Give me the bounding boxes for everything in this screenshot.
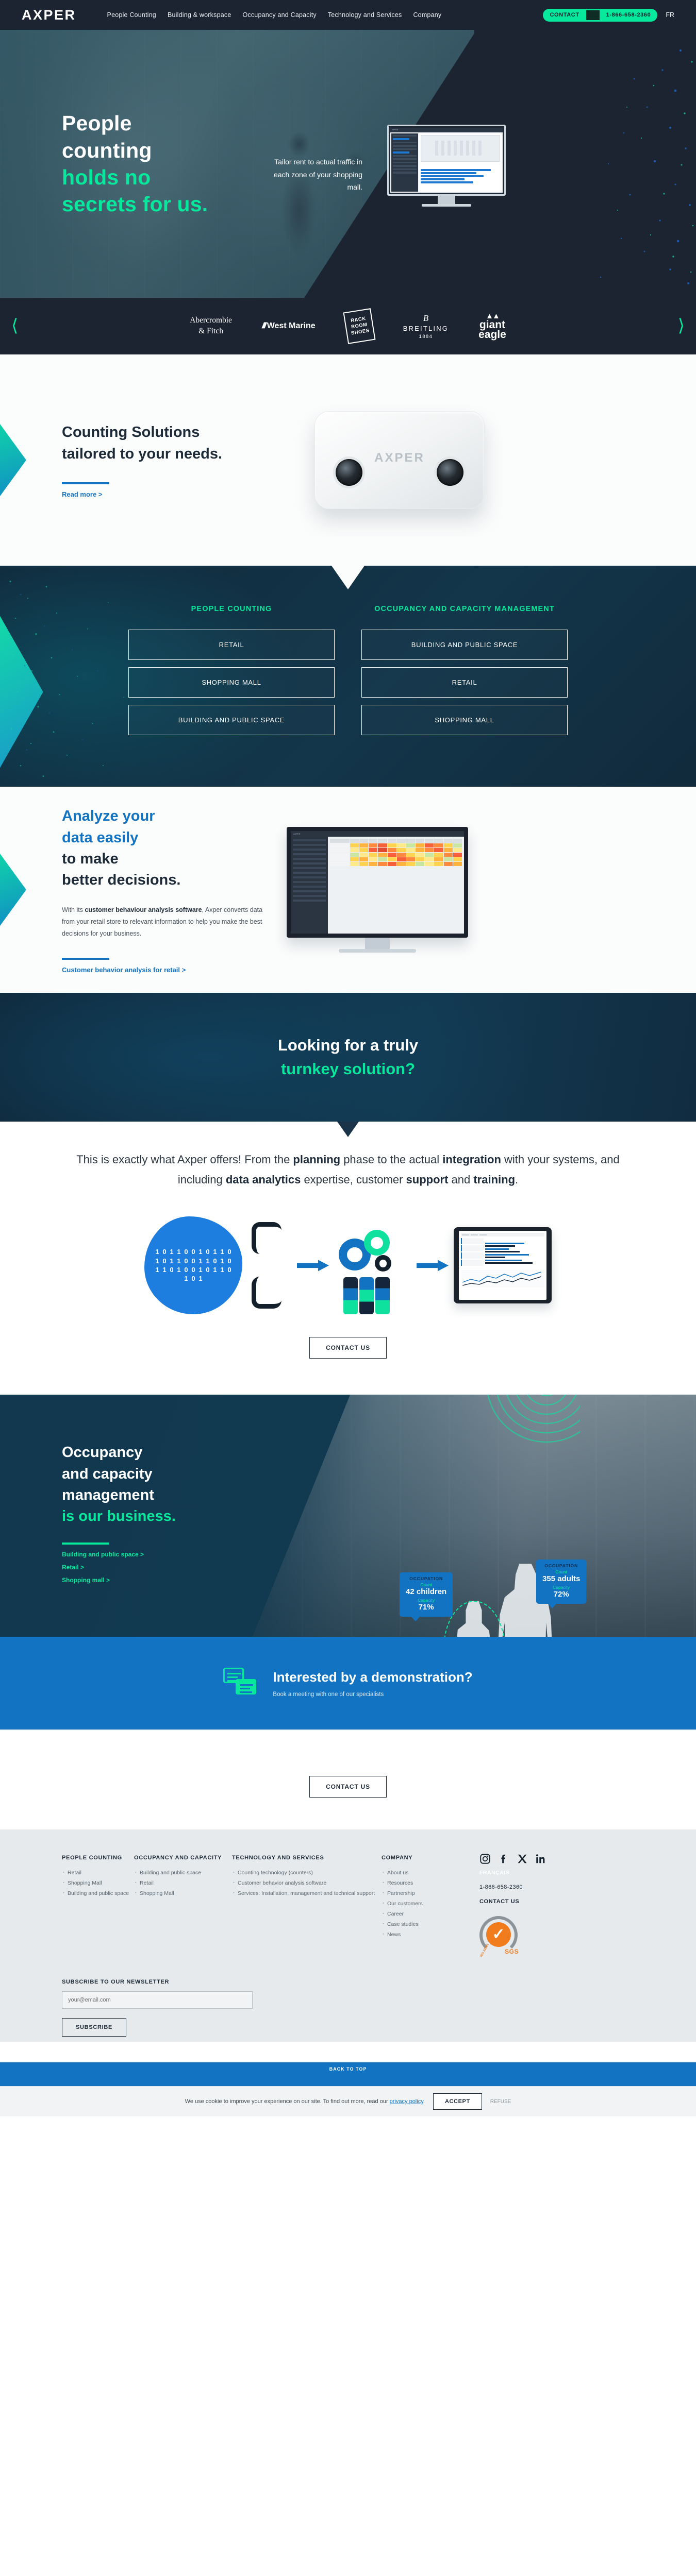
bit: 1 [154,1266,161,1274]
footer-link-behavior-software[interactable]: Customer behavior analysis software [232,1878,382,1889]
heat-cell [444,857,453,861]
heat-cell [453,843,462,848]
toolbar-item [471,1234,478,1235]
demo-cta-section: CONTACT US [0,1730,696,1829]
heat-cell [416,843,424,848]
title-line: to make [62,849,268,870]
gear-icon [376,1257,390,1270]
dashboard-app [291,837,464,938]
chevron-right-icon[interactable]: ⟩ [667,317,696,335]
process-infographic: 101100 101101 011001 101011 010010 11010… [77,1211,619,1319]
contact-us-button[interactable]: CONTACT US [309,1337,387,1359]
chevron-left-icon[interactable]: ⟨ [0,317,29,335]
bit: 0 [183,1266,190,1274]
footer-heading: TECHNOLOGY AND SERVICES [232,1853,382,1863]
arrow-right-icon [417,1260,449,1271]
bit: 0 [226,1257,233,1265]
db-cylinder [343,1277,358,1314]
heat-cell [444,862,453,866]
heat-cell [406,857,415,861]
bit: 0 [183,1257,190,1265]
camera-lens-icon [336,459,362,486]
heat-cell [397,857,406,861]
logo-text-line: 1884 [403,334,449,340]
sidebar-row [293,872,326,874]
solution-button-building-public-space[interactable]: BUILDING AND PUBLIC SPACE [128,705,335,735]
sidebar-row [293,886,326,888]
line-chart-svg [461,1270,544,1287]
badge-capacity-value: 71% [406,1603,446,1612]
toolbar-item [479,1234,487,1235]
heat-cell [406,848,415,852]
solution-button-retail[interactable]: RETAIL [361,667,568,698]
bar-chart-widget [421,163,500,190]
footer-link-case-studies[interactable]: Case studies [382,1920,479,1930]
grid-header-cell [434,839,443,843]
grid-header-cell [406,839,415,843]
heat-cell [359,848,368,852]
contact-us-button-demo[interactable]: CONTACT US [309,1776,387,1798]
analyze-title: Analyze your data easily to make better … [62,806,268,891]
hero-content: People counting holds no secrets for us.… [0,30,696,298]
dashboard-body [461,1238,544,1268]
monitor-screen: AXPER [287,827,468,938]
nav-item-building-workspace[interactable]: Building & workspace [168,11,231,19]
footer-link-building-public-space[interactable]: Building and public space [62,1889,134,1899]
counting-solutions-text: Counting Solutions tailored to your need… [62,422,284,498]
heat-cell [359,853,368,857]
accent-rule [62,958,109,960]
footer-link-services[interactable]: Services: Installation, management and t… [232,1889,382,1899]
bit: 0 [161,1248,168,1256]
sidebar-row [393,165,417,167]
toolbar-item [462,1234,469,1235]
grid-label-cell [330,862,350,866]
data-pipes-icon [247,1219,292,1312]
sidebar-row [293,895,326,897]
client-logo-abercrombie[interactable]: Abercrombie & Fitch [190,315,232,337]
footer-link-our-customers[interactable]: Our customers [382,1899,479,1909]
heat-cell [434,857,443,861]
bubble-line [227,1676,238,1678]
badge-count-label: Count [542,1569,580,1574]
occupancy-text: Occupancy and capacity management is our… [62,1442,232,1589]
bar-chart-widget [485,1238,544,1268]
solution-button-retail[interactable]: RETAIL [128,630,335,660]
cookie-text-part: . [423,2098,425,2105]
bit: 1 [219,1257,226,1265]
solution-button-shopping-mall[interactable]: SHOPPING MALL [361,705,568,735]
paragraph-part: With its [62,906,85,913]
logo-text-line: giant [478,320,506,330]
customer-behavior-analysis-link[interactable]: Customer behavior analysis for retail > [62,966,268,974]
x-twitter-icon[interactable] [517,1853,528,1865]
footer-column-technology: TECHNOLOGY AND SERVICES Counting technol… [232,1853,382,1954]
cookie-text: We use cookie to improve your experience… [185,2098,425,2105]
footer-contact-us-link[interactable]: CONTACT US [479,1899,674,1905]
kpi-card [461,1260,484,1266]
heat-cell [388,848,396,852]
monitor-sidebar [391,133,418,192]
bit: 1 [154,1257,161,1265]
title-line: turnkey solution? [278,1057,418,1081]
nav-item-company[interactable]: Company [413,11,441,19]
bit: 0 [190,1266,197,1274]
paragraph-emphasis: planning [293,1153,340,1166]
occupancy-title: Occupancy and capacity management is our… [62,1442,232,1527]
heat-cell [416,853,424,857]
footer-link-counting-technology[interactable]: Counting technology (counters) [232,1868,382,1878]
sidebar-row [293,849,326,851]
heat-cell [397,843,406,848]
footer-heading: COMPANY [382,1853,479,1863]
logo-text-line: Abercrombie [190,315,232,326]
title-line: tailored to your needs. [62,444,284,465]
bit: 1 [176,1248,183,1256]
column-heading: PEOPLE COUNTING [128,605,335,613]
bit: 1 [197,1266,204,1274]
cookie-refuse-button[interactable]: REFUSE [490,2099,511,2105]
cookie-consent-bar: We use cookie to improve your experience… [0,2086,696,2116]
floor-map-widget [421,135,500,162]
bit: 0 [190,1275,197,1283]
brain-binary-cloud: 101100 101101 011001 101011 010010 11010… [144,1216,242,1314]
chart-bar [485,1248,509,1250]
client-logo-breitling[interactable]: B BREITLING 1884 [403,313,449,340]
title-line: data easily [62,827,268,849]
footer-heading: OCCUPANCY AND CAPACITY [134,1853,232,1863]
bubble-line [240,1684,253,1686]
link-building-public-space[interactable]: Building and public space > [62,1551,232,1558]
chat-bubble-front [236,1679,256,1694]
grid-header-cell [397,839,406,843]
chart-bar [421,169,491,171]
monitor-titlebar: AXPER [390,128,503,132]
west-marine-slashes-icon: //// [262,321,265,331]
tablet-screen [459,1231,546,1300]
nav-item-people-counting[interactable]: People Counting [107,11,156,19]
pipe-top [252,1222,281,1254]
heat-cell [425,843,434,848]
heatmap-grid [330,839,462,866]
paragraph-emphasis: support [406,1173,449,1186]
client-logo-giant-eagle[interactable]: ▲▲ giant eagle [478,313,506,340]
newsletter-email-input[interactable] [62,1991,253,2009]
bit: 1 [154,1248,161,1256]
linkedin-icon[interactable] [535,1853,546,1865]
monitor-titlebar: AXPER [291,831,464,837]
solution-paragraph: This is exactly what Axper offers! From … [59,1149,637,1190]
demonstration-text: Interested by a demonstration? Book a me… [273,1669,472,1698]
heat-cell [434,853,443,857]
grid-header-cell [350,839,359,843]
badge-title: OCCUPATION [542,1563,580,1568]
sgs-certification-badge: ISO 22301 SGS [479,1916,518,1954]
heat-cell [434,862,443,866]
dashboard-sidebar [291,837,328,938]
heat-cell [378,843,387,848]
sidebar-row [393,151,409,154]
solutions-columns: PEOPLE COUNTING RETAIL SHOPPING MALL BUI… [22,605,674,742]
bit: 1 [169,1248,175,1256]
footer-link-news[interactable]: News [382,1930,479,1940]
grid-header-cell [330,839,350,843]
footer-link-shopping-mall[interactable]: Shopping Mall [134,1889,232,1899]
heat-cell [359,862,368,866]
demo-title: Interested by a demonstration? [273,1669,472,1685]
heat-cell [369,853,377,857]
badge-title: OCCUPATION [406,1576,446,1581]
footer-link-partnership[interactable]: Partnership [382,1889,479,1899]
bit: 1 [176,1266,183,1274]
demo-subtitle: Book a meeting with one of our specialis… [273,1691,472,1698]
heat-cell [388,857,396,861]
heat-cell [350,848,359,852]
turnkey-title: Looking for a truly turnkey solution? [278,1033,418,1081]
hero-title-line-4: secrets for us. [62,191,232,217]
solution-button-building-public-space[interactable]: BUILDING AND PUBLIC SPACE [361,630,568,660]
chart-bar [421,175,484,177]
hero-monitor-mockup: AXPER [387,125,506,207]
language-switch-fr[interactable]: FR [666,11,674,19]
counting-read-more-block: Read more > [62,482,284,498]
footer-link-about-us[interactable]: About us [382,1868,479,1878]
monitor-app-title: AXPER [392,129,398,131]
dashboard-toolbar [461,1233,544,1236]
breitling-monogram-icon: B [403,313,449,324]
footer-link-resources[interactable]: Resources [382,1878,479,1889]
footer-link-shopping-mall[interactable]: Shopping Mall [62,1878,134,1889]
hero-section: People counting holds no secrets for us.… [0,30,696,298]
footer-heading: PEOPLE COUNTING [62,1853,134,1863]
bubble-line [240,1691,252,1693]
badge-capacity-value: 72% [542,1590,580,1599]
heat-cell [406,843,415,848]
tablet-dashboard-mockup [454,1227,552,1303]
header-actions: CONTACT 1-866-658-2360 FR [543,9,674,22]
hero-title: People counting holds no secrets for us. [62,110,232,218]
grid-label-cell [330,843,350,848]
analyze-text: Analyze your data easily to make better … [62,806,268,973]
grid-label-cell [330,848,350,852]
heat-cell [444,848,453,852]
paragraph-emphasis: data analytics [226,1173,301,1186]
sidebar-row [293,844,326,846]
turnkey-banner: Looking for a truly turnkey solution? [0,993,696,1122]
heat-cell [350,857,359,861]
heat-cell [378,862,387,866]
badge-count-value: 42 children [406,1587,446,1597]
footer-column-occupancy: OCCUPANCY AND CAPACITY Building and publ… [134,1853,232,1954]
footer-link-building-public-space[interactable]: Building and public space [134,1868,232,1878]
heat-cell [425,853,434,857]
chart-bar [421,172,476,174]
badge-count-label: Count [406,1582,446,1587]
heat-cell [388,853,396,857]
bit: 1 [197,1248,204,1256]
grid-label-cell [330,853,350,857]
paragraph-part: and [448,1173,473,1186]
sidebar-row [293,890,326,892]
paragraph-emphasis: customer behaviour analysis software [85,906,202,913]
db-cylinder [359,1277,374,1314]
monitor-neck [438,196,455,204]
monitor-base [422,204,471,207]
contact-button[interactable]: CONTACT [543,9,586,22]
line-chart-widget [461,1270,544,1287]
link-retail[interactable]: Retail > [62,1564,232,1571]
cookie-accept-button[interactable]: ACCEPT [433,2093,482,2110]
occupancy-links: Building and public space > Retail > Sho… [62,1543,232,1584]
heat-cell [359,857,368,861]
demonstration-banner: Interested by a demonstration? Book a me… [0,1637,696,1730]
counting-solutions-section: Counting Solutions tailored to your need… [0,354,696,566]
heat-cell [369,862,377,866]
chart-bar [485,1245,515,1247]
monitor-neck [365,938,390,949]
dashboard-monitor-mockup: AXPER [287,827,468,953]
heat-cell [397,853,406,857]
bubble-line [240,1688,250,1689]
bit: 0 [190,1248,197,1256]
heat-cell [444,853,453,857]
heat-cell [397,862,406,866]
paragraph-part: This is exactly what Axper offers! From … [76,1153,293,1166]
logo-text-line: eagle [478,330,506,340]
kpi-card [461,1252,484,1259]
grid-header-cell [359,839,368,843]
heat-cell [425,848,434,852]
pipe-bottom [252,1277,281,1309]
bit: 1 [161,1266,168,1274]
heat-cell [453,853,462,857]
column-heading: OCCUPANCY AND CAPACITY MANAGEMENT [361,605,568,613]
footer-phone[interactable]: 1-866-658-2360 [479,1884,674,1890]
sidebar-row [393,145,417,147]
heat-cell [425,862,434,866]
read-more-link[interactable]: Read more > [62,490,284,498]
bit: 0 [183,1248,190,1256]
heat-cell [369,843,377,848]
facebook-icon[interactable] [498,1853,509,1865]
footer-columns: PEOPLE COUNTING Retail Shopping Mall Bui… [22,1853,674,1954]
grid-header-cell [453,839,462,843]
hero-title-line-1: People [62,110,232,137]
back-to-top-bar[interactable]: BACK TO TOP [0,2062,696,2086]
privacy-policy-link[interactable]: privacy policy [390,2098,423,2105]
nav-item-technology-services[interactable]: Technology and Services [328,11,402,19]
grid-header-cell [416,839,424,843]
camera-lens-icon [437,459,463,486]
heat-cell [453,862,462,866]
bit: 0 [226,1248,233,1256]
site-header: AXPER People Counting Building & workspa… [0,0,696,30]
instagram-icon[interactable] [479,1853,491,1865]
sidebar-row [393,158,417,160]
subscribe-button[interactable]: SUBSCRIBE [62,2018,126,2037]
solution-button-shopping-mall[interactable]: SHOPPING MALL [128,667,335,698]
site-footer: PEOPLE COUNTING Retail Shopping Mall Bui… [0,1829,696,2042]
client-logo-rack-room-shoes[interactable]: RACK ROOM SHOES [343,308,375,344]
analyze-row: Analyze your data easily to make better … [0,787,696,993]
bit: 1 [183,1275,190,1283]
kpi-column [461,1238,484,1268]
heat-cell [350,853,359,857]
solution-section: This is exactly what Axper offers! From … [0,1122,696,1395]
chart-bar [485,1260,522,1261]
newsletter-block: SUBSCRIBE TO OUR NEWSLETTER SUBSCRIBE [22,1979,674,2037]
title-line: better decisions. [62,870,268,891]
solutions-column-occupancy: OCCUPANCY AND CAPACITY MANAGEMENT BUILDI… [361,605,568,742]
title-line: and capacity [62,1464,232,1485]
heat-cell [453,857,462,861]
nav-item-occupancy-capacity[interactable]: Occupancy and Capacity [242,11,316,19]
heatmap-table-widget [328,837,464,938]
chart-bar [485,1262,533,1264]
bit: 0 [205,1248,211,1256]
badge-count-value: 355 adults [542,1574,580,1584]
footer-column-people-counting: PEOPLE COUNTING Retail Shopping Mall Bui… [62,1853,134,1954]
occupation-badge-adults: OCCUPATION Count 355 adults Capacity 72% [536,1560,586,1604]
footer-column-company: COMPANY About us Resources Partnership O… [382,1853,479,1954]
badge-capacity-label: Capacity [542,1585,580,1590]
sidebar-row [293,867,326,869]
sensor-device-image: AXPER [314,411,485,509]
chart-bar [421,181,473,183]
heat-cell [388,843,396,848]
footer-link-retail[interactable]: Retail [62,1868,134,1878]
bit: 1 [197,1257,204,1265]
heat-cell [369,857,377,861]
phone-button[interactable]: 1-866-658-2360 [600,9,658,22]
heat-cell [397,848,406,852]
pill-divider [586,10,600,20]
bit: 0 [226,1266,233,1274]
chart-bar [485,1254,529,1256]
bit: 1 [219,1266,226,1274]
heat-cell [416,848,424,852]
occupation-badge-children: OCCUPATION Count 42 children Capacity 71… [400,1572,453,1617]
bit: 0 [169,1266,175,1274]
grid-header-cell [378,839,387,843]
certification-mark: SGS [505,1948,519,1955]
monitor-base [339,949,416,953]
footer-link-career[interactable]: Career [382,1909,479,1920]
footer-link-retail[interactable]: Retail [134,1878,232,1889]
kpi-card [461,1238,484,1244]
site-logo[interactable]: AXPER [22,7,76,23]
sidebar-row [293,881,326,883]
analyze-data-section: Analyze your data easily to make better … [0,787,696,993]
paragraph-part: expertise, customer [301,1173,406,1186]
sidebar-row [293,839,326,841]
back-to-top-label[interactable]: BACK TO TOP [329,2066,367,2072]
occupancy-section: Occupancy and capacity management is our… [0,1395,696,1637]
bit: 1 [212,1266,219,1274]
link-shopping-mall[interactable]: Shopping mall > [62,1577,232,1584]
badge-capacity-label: Capacity [406,1598,446,1603]
occupancy-content: Occupancy and capacity management is our… [0,1395,696,1637]
heat-cell [350,843,359,848]
monitor-app-body [390,132,503,193]
sidebar-row [393,162,417,164]
client-logo-west-marine[interactable]: //// West Marine [262,321,316,331]
footer-language-link[interactable]: FRANÇAIS [479,1870,674,1876]
top-notch-decoration [332,566,364,589]
cookie-text-part: We use cookie to improve your experience… [185,2098,390,2105]
binary-brain-icon: 101100 101101 011001 101011 010010 11010… [144,1216,242,1314]
bit: 1 [197,1275,204,1283]
